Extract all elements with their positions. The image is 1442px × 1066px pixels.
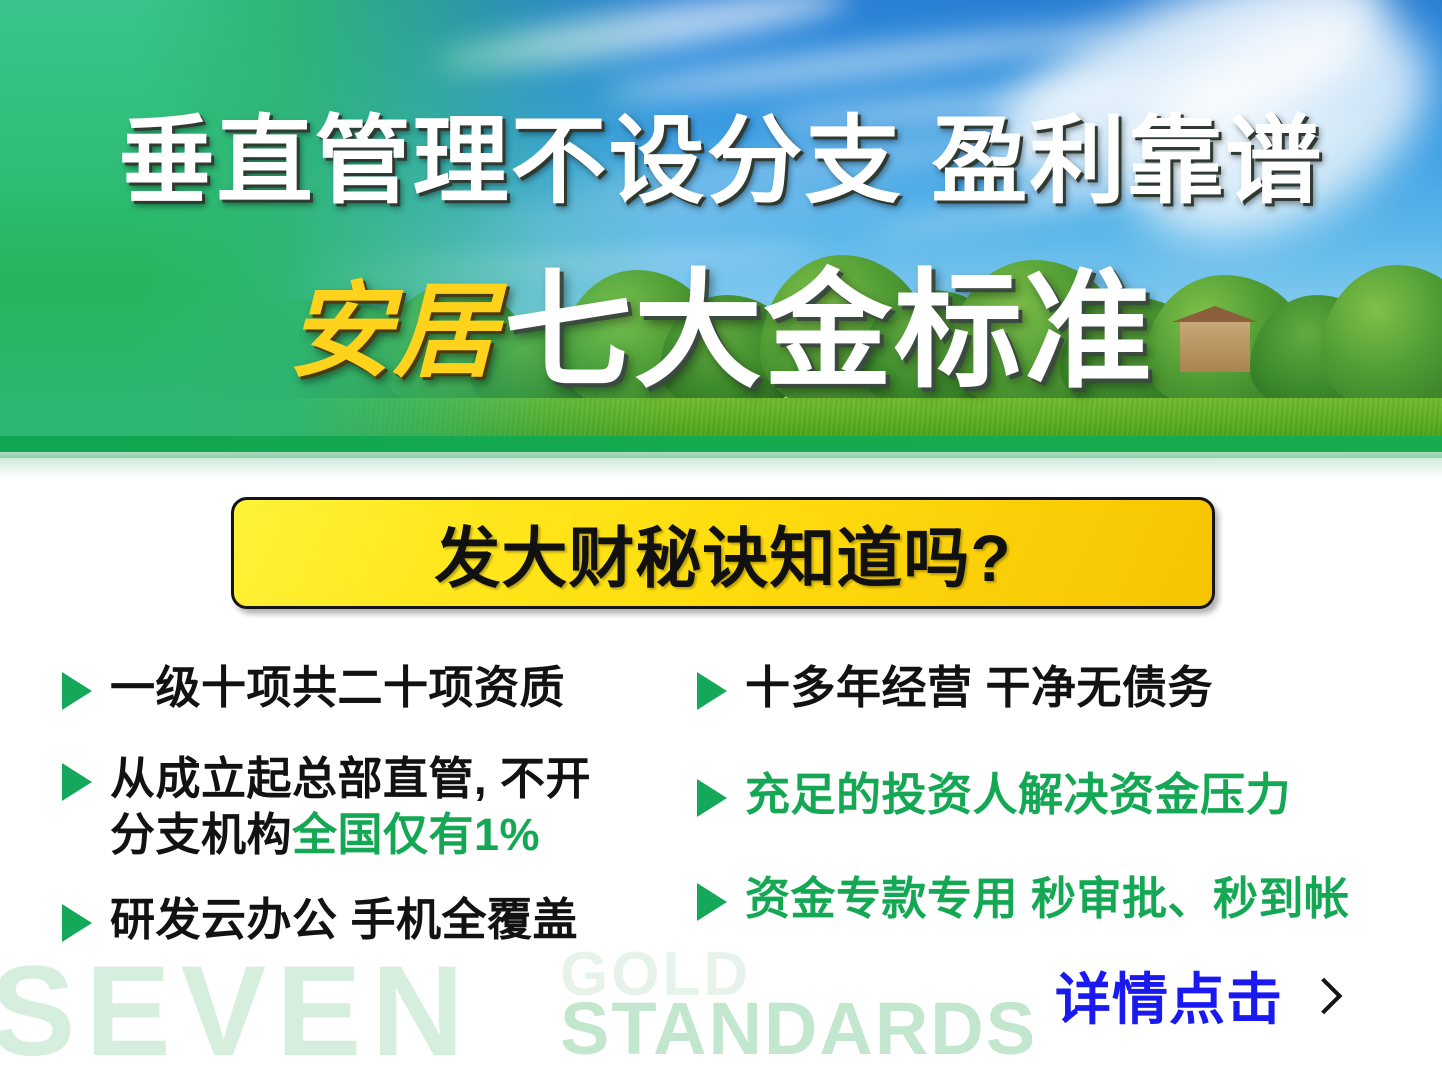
bullet-left-2-line2-plain: 分支机构 xyxy=(110,809,292,860)
bullet-label-right-2: 充足的投资人解决资金压力 xyxy=(745,767,1291,824)
list-item: 十多年经营 干净无债务 xyxy=(697,660,1397,717)
bullet-label-right-1: 十多年经营 干净无债务 xyxy=(745,660,1213,717)
list-item: 研发云办公 手机全覆盖 xyxy=(62,892,682,949)
chevron-right-icon xyxy=(1307,974,1337,1026)
list-item: 资金专款专用 秒审批、秒到帐 xyxy=(697,871,1397,928)
triangle-bullet-icon xyxy=(697,672,727,710)
bullet-label-right-3: 资金专款专用 秒审批、秒到帐 xyxy=(745,871,1350,928)
list-item: 从成立起总部直管, 不开 分支机构全国仅有1% xyxy=(62,751,682,864)
details-cta-label: 详情点击 xyxy=(1055,972,1283,1028)
triangle-bullet-icon xyxy=(62,763,92,801)
hero-image xyxy=(0,0,1442,458)
triangle-bullet-icon xyxy=(62,904,92,942)
list-item: 充足的投资人解决资金压力 xyxy=(697,767,1397,824)
bullet-label-left-2: 从成立起总部直管, 不开 分支机构全国仅有1% xyxy=(110,751,591,864)
bullet-left-2-highlight: 全国仅有1% xyxy=(292,809,540,860)
details-cta-link[interactable]: 详情点击 xyxy=(1055,972,1337,1028)
feature-bullets: 一级十项共二十项资质 从成立起总部直管, 不开 分支机构全国仅有1% 研发云办公… xyxy=(0,660,1442,980)
bullet-column-left: 一级十项共二十项资质 从成立起总部直管, 不开 分支机构全国仅有1% 研发云办公… xyxy=(62,660,682,979)
bullet-label-left-1: 一级十项共二十项资质 xyxy=(110,660,565,717)
hero-bottom-fade xyxy=(0,452,1442,478)
list-item: 一级十项共二十项资质 xyxy=(62,660,682,717)
triangle-bullet-icon xyxy=(697,883,727,921)
yellow-headline-banner[interactable]: 发大财秘诀知道吗? xyxy=(231,497,1215,609)
bullet-column-right: 十多年经营 干净无债务 充足的投资人解决资金压力 资金专款专用 秒审批、秒到帐 xyxy=(697,660,1397,958)
triangle-bullet-icon xyxy=(697,779,727,817)
triangle-bullet-icon xyxy=(62,672,92,710)
green-gradient-overlay-left xyxy=(0,0,560,458)
yellow-banner-label: 发大财秘诀知道吗? xyxy=(434,505,1011,601)
watermark-standards: STANDARDS xyxy=(560,992,1037,1066)
bullet-label-left-3: 研发云办公 手机全覆盖 xyxy=(110,892,578,949)
bullet-left-2-line1: 从成立起总部直管, 不开 xyxy=(110,753,591,804)
promo-banner-page: 垂直管理不设分支 盈利靠谱 安居七大金标准 发大财秘诀知道吗? SEVEN GO… xyxy=(0,0,1442,1066)
